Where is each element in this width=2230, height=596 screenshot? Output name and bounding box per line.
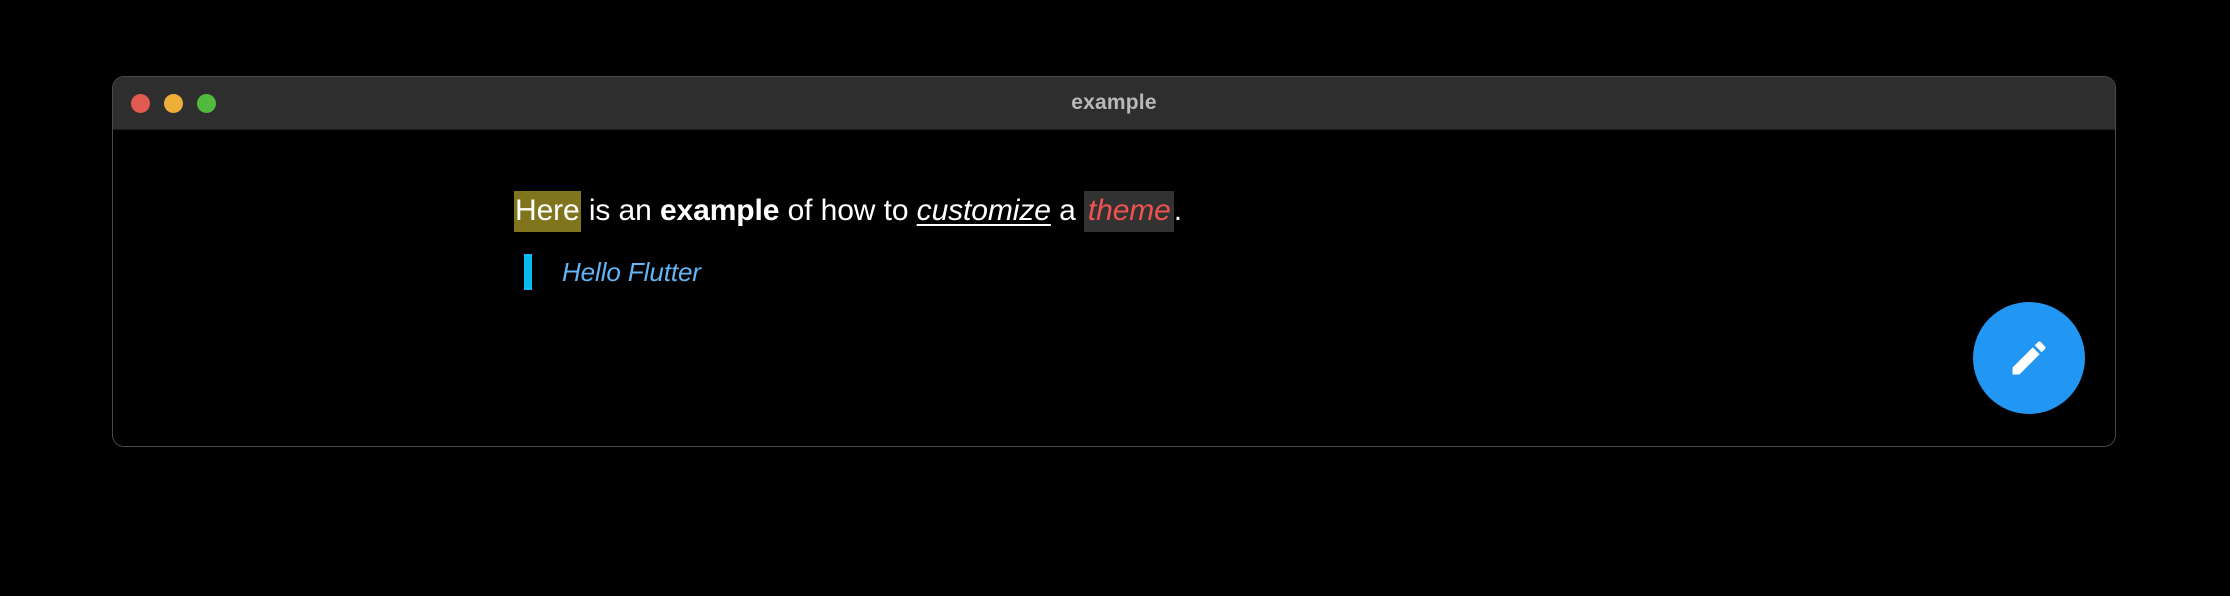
text-span-period: .: [1174, 194, 1182, 227]
app-window: example Here is an example of how to cus…: [112, 76, 2116, 447]
window-title-bar[interactable]: example: [113, 77, 2115, 130]
text-span-plain-2: of how to: [779, 194, 916, 227]
traffic-light-controls: [131, 77, 216, 130]
window-title: example: [113, 91, 2115, 115]
blockquote-text: Hello Flutter: [532, 254, 701, 290]
maximize-window-button[interactable]: [197, 94, 216, 113]
pencil-edit-icon: [2007, 336, 2051, 380]
text-span-bold: example: [660, 194, 779, 227]
window-content-area: Here is an example of how to customize a…: [113, 130, 2115, 446]
close-window-button[interactable]: [131, 94, 150, 113]
text-span-plain-3: a: [1051, 194, 1084, 227]
text-span-theme-colored: theme: [1084, 191, 1174, 232]
text-span-italic-underlined: customize: [917, 194, 1051, 227]
text-span-plain-1: is an: [581, 194, 660, 227]
blockquote: Hello Flutter: [524, 254, 701, 290]
text-span-highlighted: Here: [514, 191, 581, 232]
rich-text-paragraph: Here is an example of how to customize a…: [514, 192, 1182, 230]
minimize-window-button[interactable]: [164, 94, 183, 113]
desktop-backdrop: example Here is an example of how to cus…: [0, 0, 2230, 596]
floating-action-button[interactable]: [1973, 302, 2085, 414]
blockquote-accent-bar: [524, 254, 532, 290]
